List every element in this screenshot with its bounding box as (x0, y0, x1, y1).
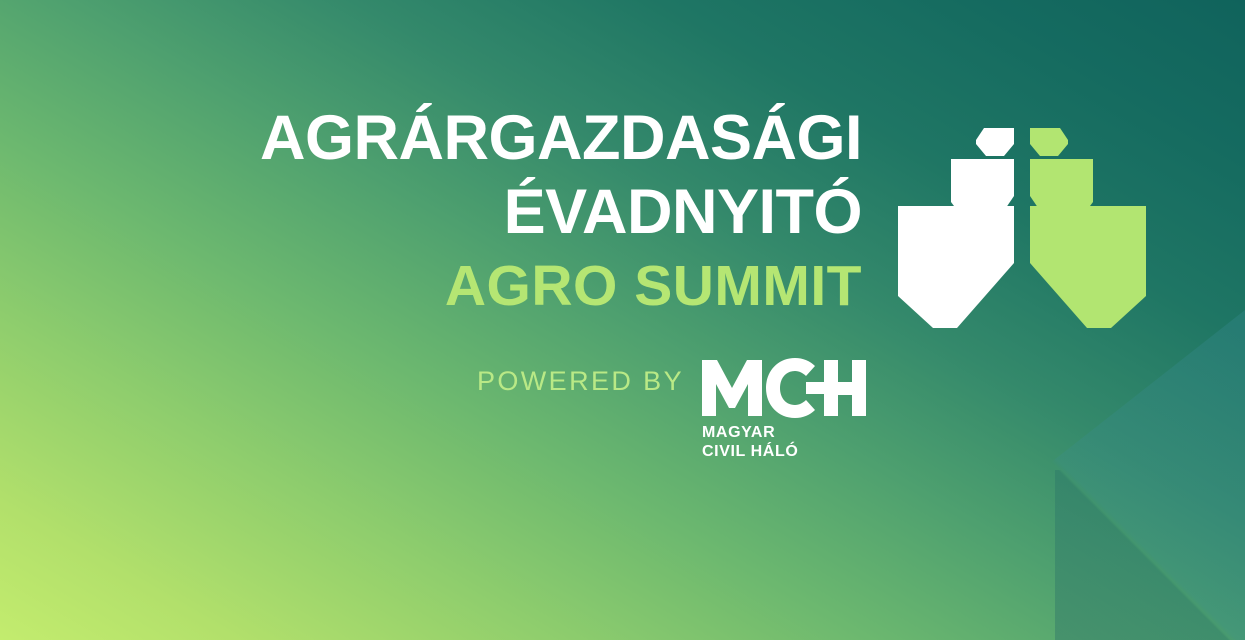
mch-logo: MAGYAR CIVIL HÁLÓ (702, 358, 866, 461)
plant-sprout-icon (893, 118, 1151, 336)
mch-wordmark-icon (702, 358, 866, 418)
powered-by-row: POWERED BY MAGYAR CIVIL HÁLÓ (0, 358, 880, 461)
mch-subtitle-line-1: MAGYAR (702, 424, 798, 443)
headline-line-3-agro-summit: AGRO SUMMIT (0, 259, 862, 315)
headline-line-1: AGRÁRGAZDASÁGI (0, 108, 862, 170)
background-corner-accent (1055, 470, 1245, 640)
mch-subtitle: MAGYAR CIVIL HÁLÓ (702, 424, 798, 461)
agro-summit-banner: AGRÁRGAZDASÁGI ÉVADNYITÓ AGRO SUMMIT POW… (0, 0, 1245, 640)
mch-subtitle-line-2: CIVIL HÁLÓ (702, 443, 798, 462)
headline-line-2: ÉVADNYITÓ (0, 182, 862, 244)
headline-block: AGRÁRGAZDASÁGI ÉVADNYITÓ AGRO SUMMIT (0, 108, 880, 315)
powered-by-label: POWERED BY (477, 366, 684, 397)
background-diagonal-wedge (825, 310, 1245, 640)
